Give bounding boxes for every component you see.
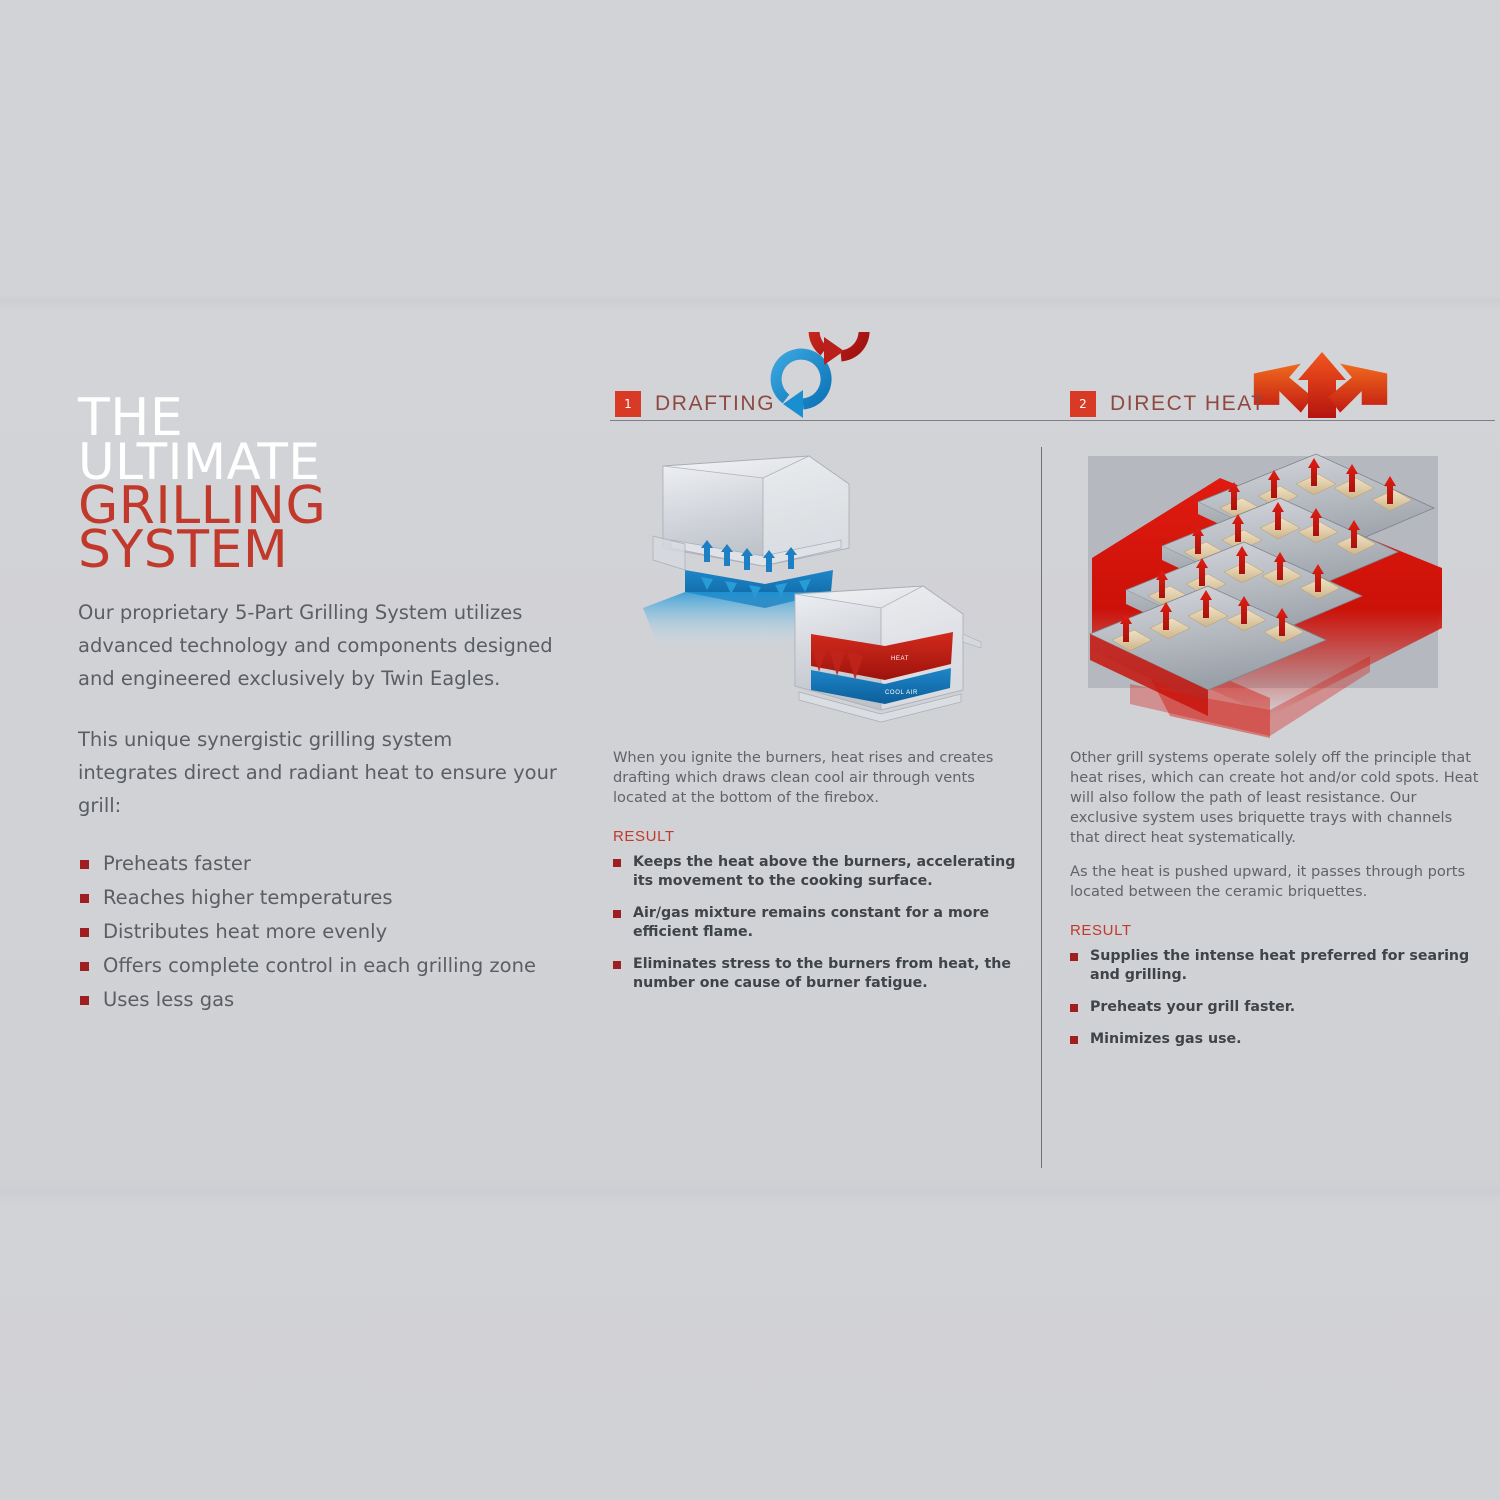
bullet-square-icon (613, 859, 621, 867)
benefits-list: Preheats faster Reaches higher temperatu… (78, 848, 578, 1015)
step-number-badge: 1 (615, 391, 641, 417)
list-item: Preheats your grill faster. (1070, 998, 1485, 1017)
column-title: DRAFTING (655, 392, 775, 416)
column-body-text: Other grill systems operate solely off t… (1070, 748, 1485, 848)
list-item: Distributes heat more evenly (78, 916, 578, 947)
list-item: Air/gas mixture remains constant for a m… (613, 904, 1021, 942)
list-item: Supplies the intense heat preferred for … (1070, 947, 1485, 985)
column-drafting: HEAT COOL AIR When you ignite the burner… (613, 448, 1021, 1006)
result-heading: RESULT (613, 828, 1021, 845)
list-item-label: Reaches higher temperatures (103, 886, 393, 909)
list-item-label: Preheats faster (103, 852, 251, 875)
result-heading: RESULT (1070, 922, 1485, 939)
list-item-label: Distributes heat more evenly (103, 920, 387, 943)
list-item: Reaches higher temperatures (78, 882, 578, 913)
briquette-tray-direct-heat-illustration (1070, 448, 1485, 748)
list-item: Keeps the heat above the burners, accele… (613, 853, 1021, 891)
column-vertical-divider (1041, 447, 1042, 1168)
list-item: Eliminates stress to the burners from he… (613, 955, 1021, 993)
column-direct-heat: Other grill systems operate solely off t… (1070, 448, 1485, 1062)
list-item-label: Preheats your grill faster. (1090, 999, 1295, 1015)
grill-unit-lower: HEAT COOL AIR (795, 586, 981, 722)
bullet-square-icon (80, 860, 89, 869)
list-item: Minimizes gas use. (1070, 1030, 1485, 1049)
list-item-label: Minimizes gas use. (1090, 1031, 1242, 1047)
bullet-square-icon (1070, 953, 1078, 961)
list-item: Preheats faster (78, 848, 578, 879)
cool-air-label: COOL AIR (885, 690, 918, 696)
intro-paragraph-2: This unique synergistic grilling system … (78, 723, 558, 822)
list-item: Offers complete control in each grilling… (78, 950, 578, 981)
column-body-text-2: As the heat is pushed upward, it passes … (1070, 862, 1485, 902)
bullet-square-icon (80, 996, 89, 1005)
list-item-label: Keeps the heat above the burners, accele… (633, 854, 1015, 889)
heat-label: HEAT (891, 656, 909, 662)
bullet-square-icon (613, 961, 621, 969)
grill-drafting-cutaway-illustration: HEAT COOL AIR (613, 448, 1021, 748)
list-item-label: Supplies the intense heat preferred for … (1090, 948, 1469, 983)
headline-line-4: SYSTEM (78, 528, 578, 572)
bullet-square-icon (80, 894, 89, 903)
page-title: THE ULTIMATE GRILLING SYSTEM (78, 396, 578, 572)
list-item-label: Uses less gas (103, 988, 234, 1011)
header-horizontal-rule (610, 420, 1495, 421)
intro-paragraph-1: Our proprietary 5-Part Grilling System u… (78, 596, 558, 695)
list-item-label: Eliminates stress to the burners from he… (633, 956, 1011, 991)
list-item-label: Air/gas mixture remains constant for a m… (633, 905, 989, 940)
column-title: DIRECT HEAT (1110, 392, 1266, 416)
bullet-square-icon (80, 962, 89, 971)
column-body-text: When you ignite the burners, heat rises … (613, 748, 1021, 808)
bullet-square-icon (613, 910, 621, 918)
list-item: Uses less gas (78, 984, 578, 1015)
result-list: Keeps the heat above the burners, accele… (613, 853, 1021, 993)
list-item-label: Offers complete control in each grilling… (103, 954, 536, 977)
three-heat-arrows-icon (1248, 352, 1396, 420)
intro-panel: THE ULTIMATE GRILLING SYSTEM Our proprie… (78, 396, 578, 1018)
result-list: Supplies the intense heat preferred for … (1070, 947, 1485, 1049)
step-number-badge: 2 (1070, 391, 1096, 417)
bullet-square-icon (1070, 1004, 1078, 1012)
bullet-square-icon (1070, 1036, 1078, 1044)
bullet-square-icon (80, 928, 89, 937)
